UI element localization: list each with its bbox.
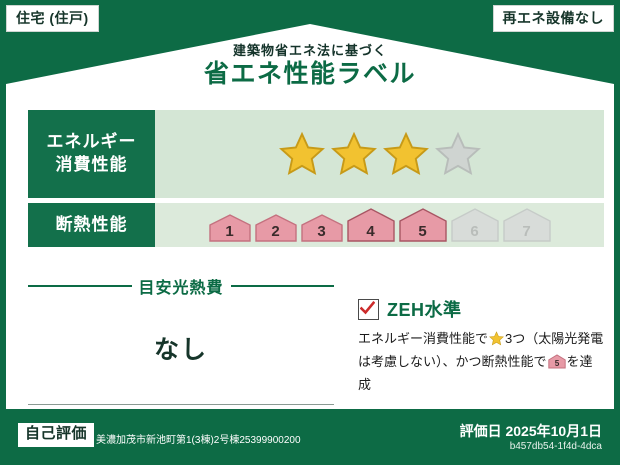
row-energy-performance: エネルギー 消費性能 [28,110,604,198]
utility-cost-heading-text: 目安光熱費 [139,274,224,298]
zeh-description: エネルギー消費性能で 3つ（太陽光発電 は考慮しない）、かつ断熱性能で 5 を達… [358,329,604,395]
header-title-block: 建築物省エネ法に基づく 省エネ性能ラベル [6,44,614,89]
check-icon [358,299,379,320]
lower-section: 目安光熱費 なし ZEH水準 エネルギー消費性能で [28,274,604,414]
row-energy-label-line2: 消費性能 [56,155,128,174]
row-insulation-performance: 断熱性能 1234567 [28,203,604,247]
star-icon-filled [331,131,377,177]
insulation-level-2: 2 [255,214,297,242]
zeh-desc-part3: は考慮しない）、かつ断熱性能で [358,354,547,369]
star-rating [279,131,481,177]
utility-cost-block: 目安光熱費 なし [28,274,334,405]
header-subtitle: 建築物省エネ法に基づく [6,44,614,58]
performance-rows: エネルギー 消費性能 断熱性能 1234567 [28,110,604,252]
insulation-level-label: 2 [255,224,297,239]
property-address: 美濃加茂市新池町第1(3棟)2号棟25399900200 [96,431,301,446]
star-icon-filled [279,131,325,177]
insulation-level-label: 3 [301,224,343,239]
insulation-level-4: 4 [347,208,395,242]
star-icon [489,331,504,352]
footer: 自己評価 美濃加茂市新池町第1(3棟)2号棟25399900200 評価日 20… [0,409,620,465]
zeh-block: ZEH水準 エネルギー消費性能で 3つ（太陽光発電 は考慮しない）、かつ断熱性能… [358,296,604,395]
insulation-level-7: 7 [503,208,551,242]
label-uid: b457db54-1f4d-4dca [510,441,602,452]
energy-label-card: 住宅 (住戸) 再エネ設備なし 建築物省エネ法に基づく 省エネ性能ラベル エネル… [0,0,620,465]
insulation-level-label: 1 [209,224,251,239]
row-insulation-value: 1234567 [155,203,604,247]
evaluation-date: 評価日 2025年10月1日 [460,421,602,441]
house-level-icon-value: 5 [554,359,559,368]
utility-cost-heading: 目安光熱費 [28,274,334,298]
badge-building-type: 住宅 (住戸) [6,5,99,32]
row-energy-label-line1: エネルギー [47,132,137,151]
label-house-body: 建築物省エネ法に基づく 省エネ性能ラベル エネルギー 消費性能 断熱性能 [6,24,614,409]
utility-cost-divider [28,404,334,405]
zeh-desc-part1: エネルギー消費性能で [358,331,488,346]
zeh-desc-part2: 3つ（太陽光発電 [505,331,603,346]
insulation-level-1: 1 [209,214,251,242]
star-icon-empty [435,131,481,177]
zeh-title-row: ZEH水準 [358,296,604,322]
insulation-level-label: 6 [451,224,499,239]
row-insulation-label: 断熱性能 [28,203,155,247]
row-energy-value [155,110,604,198]
star-icon-filled [383,131,429,177]
insulation-level-label: 4 [347,224,395,239]
heading-rule-right [231,285,335,287]
page-title: 省エネ性能ラベル [6,61,614,89]
evaluation-date-label: 評価日 [460,423,502,439]
utility-cost-value: なし [28,330,334,366]
self-evaluation-badge: 自己評価 [18,423,94,447]
insulation-level-3: 3 [301,214,343,242]
insulation-level-6: 6 [451,208,499,242]
row-energy-label: エネルギー 消費性能 [28,110,155,198]
zeh-title: ZEH水準 [387,296,462,322]
house-level-icon: 5 [548,354,566,375]
insulation-level-label: 7 [503,224,551,239]
insulation-level-scale: 1234567 [209,208,551,242]
badge-renewable-equipment: 再エネ設備なし [493,5,615,32]
heading-rule-left [28,285,132,287]
insulation-level-5: 5 [399,208,447,242]
insulation-level-label: 5 [399,224,447,239]
evaluation-date-value: 2025年10月1日 [505,423,602,439]
